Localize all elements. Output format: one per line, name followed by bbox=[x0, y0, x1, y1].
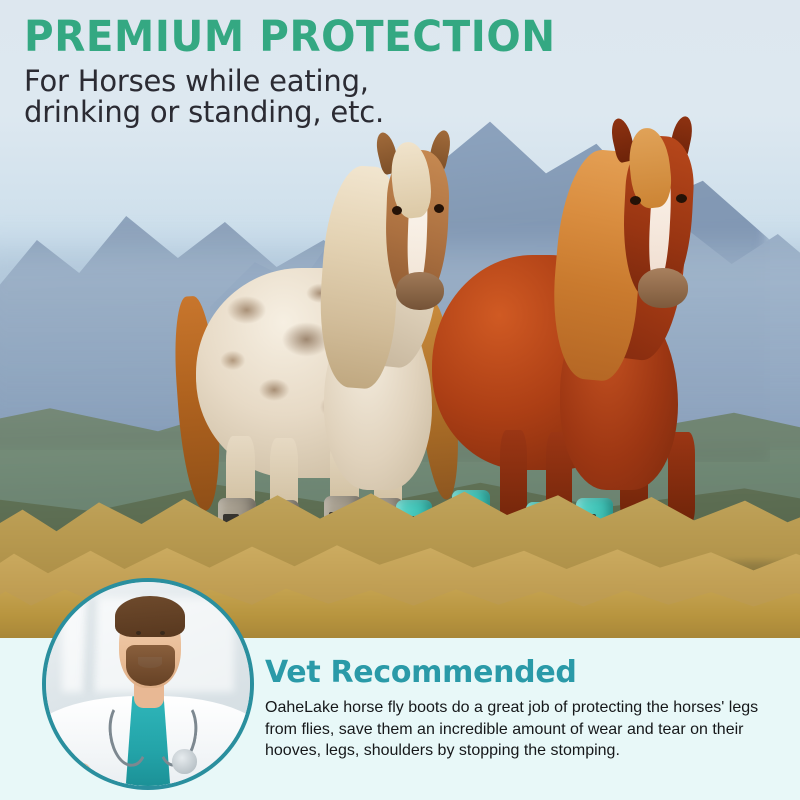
subtitle-line-2: drinking or standing, etc. bbox=[24, 97, 764, 128]
appaloosa-horse-right-eye bbox=[434, 204, 444, 213]
appaloosa-horse-muzzle bbox=[396, 272, 444, 310]
page-title: PREMIUM PROTECTION bbox=[24, 14, 720, 60]
header-block: PREMIUM PROTECTION For Horses while eati… bbox=[24, 14, 764, 128]
chestnut-horse-muzzle bbox=[638, 268, 688, 308]
avatar bbox=[42, 578, 254, 790]
chestnut-horse-left-eye bbox=[630, 196, 641, 205]
appaloosa-horse-left-eye bbox=[392, 206, 402, 215]
chestnut-horse-right-eye bbox=[676, 194, 687, 203]
stethoscope-chestpiece-icon bbox=[172, 749, 196, 773]
testimonial-body: OaheLake horse fly boots do a great job … bbox=[265, 697, 773, 762]
avatar-left-eye bbox=[136, 631, 141, 635]
avatar-hair bbox=[115, 596, 184, 637]
testimonial-title: Vet Recommended bbox=[265, 656, 577, 689]
subtitle-line-1: For Horses while eating, bbox=[24, 66, 764, 97]
avatar-hand bbox=[58, 762, 91, 784]
avatar-beard bbox=[126, 645, 175, 686]
product-marketing-card: PREMIUM PROTECTION For Horses while eati… bbox=[0, 0, 800, 800]
